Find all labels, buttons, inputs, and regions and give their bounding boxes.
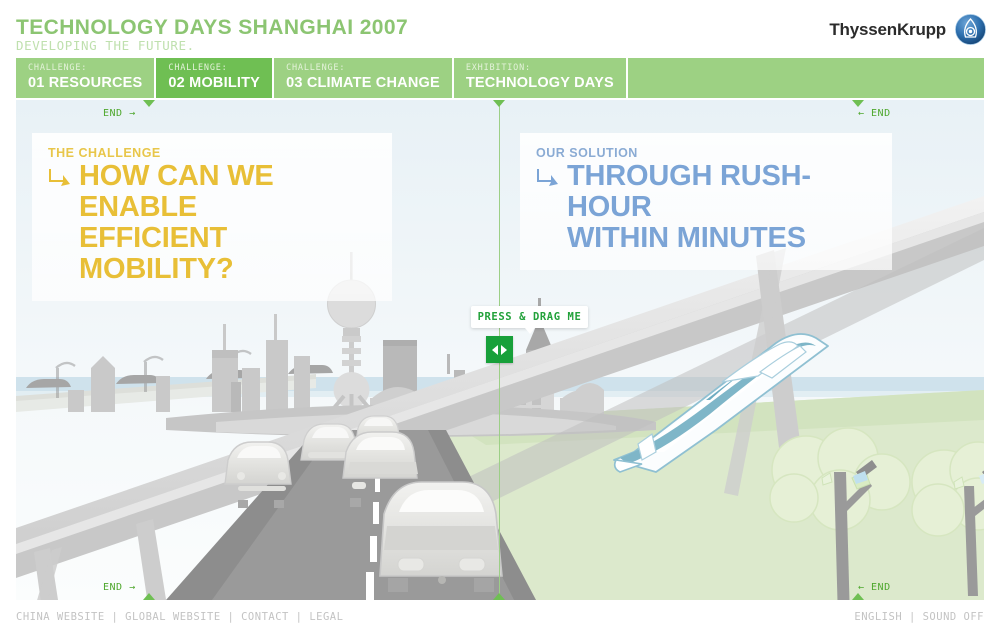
tab-02-mobility[interactable]: CHALLENGE: 02 MOBILITY [156,58,274,98]
footer-links-right[interactable]: ENGLISH | SOUND OFF [854,611,984,623]
tab-label: 01 RESOURCES [28,74,142,92]
tab-exhibition-technology-days[interactable]: EXHIBITION: TECHNOLOGY DAYS [454,58,628,98]
challenge-tabbar: CHALLENGE: 01 RESOURCES CHALLENGE: 02 MO… [16,58,984,98]
end-marker-top-left[interactable]: END → [103,108,136,119]
solution-kicker: OUR SOLUTION [536,145,876,161]
tab-kicker: CHALLENGE: [28,63,142,74]
logo-wordmark: ThyssenKrupp [829,20,946,40]
divider-caret-bottom-icon [493,593,505,600]
tab-label: 02 MOBILITY [168,74,260,92]
car-near [380,482,502,592]
end-caret-bottom-right-icon [852,593,864,600]
arrow-down-right-icon [536,165,560,189]
arrow-down-right-icon [48,165,72,189]
end-marker-top-right[interactable]: ← END [858,108,891,119]
drag-tooltip: PRESS & DRAG ME [471,306,588,328]
challenge-line-2: EFFICIENT MOBILITY? [79,223,376,285]
end-marker-bottom-left[interactable]: END → [103,582,136,593]
tab-kicker: CHALLENGE: [286,63,440,74]
footer-links-left[interactable]: CHINA WEBSITE | GLOBAL WEBSITE | CONTACT… [16,611,343,623]
thyssenkrupp-rings-icon [955,14,986,45]
challenge-kicker: THE CHALLENGE [48,145,376,161]
application-window: TECHNOLOGY DAYS SHANGHAI 2007 DEVELOPING… [0,0,1000,635]
page-footer: CHINA WEBSITE | GLOBAL WEBSITE | CONTACT… [0,600,1000,635]
end-caret-top-left-icon [143,100,155,107]
divider-caret-top-icon [493,100,505,107]
solution-line-1: THROUGH RUSH-HOUR [567,161,876,223]
solution-line-2: WITHIN MINUTES [567,223,876,254]
tab-01-resources[interactable]: CHALLENGE: 01 RESOURCES [16,58,156,98]
challenge-line-1: HOW CAN WE ENABLE [79,161,376,223]
solution-panel: OUR SOLUTION THROUGH RUSH-HOUR WITHIN MI… [520,133,892,270]
tab-03-climate-change[interactable]: CHALLENGE: 03 CLIMATE CHANGE [274,58,454,98]
page-subtitle: DEVELOPING THE FUTURE. [16,38,195,53]
arrow-right-icon [501,345,507,355]
page-header: TECHNOLOGY DAYS SHANGHAI 2007 DEVELOPING… [0,0,1000,58]
end-marker-bottom-right[interactable]: ← END [858,582,891,593]
challenge-panel: THE CHALLENGE HOW CAN WE ENABLE EFFICIEN… [32,133,392,301]
drag-tooltip-label: PRESS & DRAG ME [478,311,582,323]
split-drag-handle[interactable] [486,336,513,363]
page-title: TECHNOLOGY DAYS SHANGHAI 2007 [16,16,408,40]
tabbar-filler [628,58,984,98]
end-caret-bottom-left-icon [143,593,155,600]
arrow-left-icon [492,345,498,355]
thyssenkrupp-logo[interactable]: ThyssenKrupp [829,14,986,45]
tab-kicker: EXHIBITION: [466,63,614,74]
tab-kicker: CHALLENGE: [168,63,260,74]
tab-label: TECHNOLOGY DAYS [466,74,614,92]
tab-label: 03 CLIMATE CHANGE [286,74,440,92]
end-caret-top-right-icon [852,100,864,107]
